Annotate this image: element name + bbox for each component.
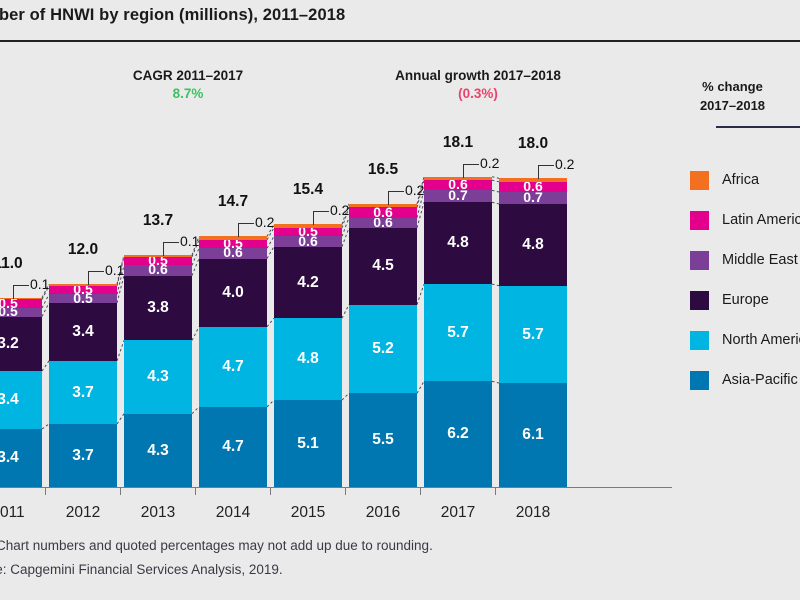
connector-line [117, 414, 124, 424]
segment-asia-pacific-2017[interactable]: 6.2 [424, 381, 492, 487]
segment-north-america-2014[interactable]: 4.7 [199, 327, 267, 407]
segment-latin-america-2011[interactable]: 0.5 [0, 299, 42, 308]
x-axis-line [0, 487, 672, 488]
x-tick [345, 488, 346, 495]
connector-line [417, 381, 424, 393]
africa-callout-2018: 0.2 [555, 156, 574, 172]
legend-item-middle-east[interactable]: Middle East [690, 240, 800, 280]
segment-value: 3.2 [0, 336, 19, 352]
segment-value: 0.5 [298, 228, 317, 237]
segment-value: 4.0 [222, 285, 244, 301]
segment-value: 5.2 [372, 341, 394, 357]
note-text: Note: Chart numbers and quoted percentag… [0, 538, 433, 553]
legend-swatch-icon [690, 331, 709, 350]
africa-callout-2017: 0.2 [480, 155, 499, 171]
connector-line [492, 202, 499, 204]
legend-swatch-icon [690, 171, 709, 190]
segment-value: 3.4 [72, 324, 94, 340]
legend-label: Middle East [722, 252, 798, 268]
segment-asia-pacific-2014[interactable]: 4.7 [199, 407, 267, 487]
connector-line [492, 190, 499, 192]
segment-africa-2016[interactable] [349, 204, 417, 207]
africa-leader-line-2015 [313, 211, 329, 225]
stacked-bar-chart: 3.43.43.20.50.53.73.73.40.50.54.34.33.80… [0, 40, 800, 600]
segment-value: 0.5 [0, 308, 18, 317]
connector-line [192, 259, 199, 276]
segment-value: 5.7 [447, 325, 469, 341]
segment-value: 3.4 [0, 392, 19, 408]
legend-swatch-icon [690, 251, 709, 270]
segment-north-america-2018[interactable]: 5.7 [499, 286, 567, 383]
segment-middle-east-2015[interactable]: 0.6 [274, 236, 342, 246]
africa-callout-2015: 0.2 [330, 202, 349, 218]
connector-line [267, 400, 274, 407]
segment-north-america-2016[interactable]: 5.2 [349, 305, 417, 394]
segment-africa-2014[interactable] [199, 236, 267, 239]
segment-europe-2012[interactable]: 3.4 [49, 303, 117, 361]
segment-value: 4.5 [372, 258, 394, 274]
segment-value: 3.4 [0, 450, 19, 466]
connector-line [192, 407, 199, 414]
segment-africa-2012[interactable] [49, 284, 117, 286]
segment-middle-east-2018[interactable]: 0.7 [499, 192, 567, 204]
segment-north-america-2017[interactable]: 5.7 [424, 284, 492, 381]
x-tick [45, 488, 46, 495]
segment-value: 3.8 [147, 300, 169, 316]
legend-label: Latin America [722, 212, 800, 228]
africa-callout-2014: 0.2 [255, 214, 274, 230]
legend-swatch-icon [690, 211, 709, 230]
segment-middle-east-2012[interactable]: 0.5 [49, 294, 117, 303]
segment-value: 0.6 [223, 248, 242, 258]
segment-value: 4.3 [147, 369, 169, 385]
segment-middle-east-2011[interactable]: 0.5 [0, 308, 42, 317]
segment-value: 4.8 [297, 351, 319, 367]
segment-latin-america-2016[interactable]: 0.6 [349, 207, 417, 217]
x-tick [495, 488, 496, 495]
segment-value: 0.6 [148, 265, 167, 275]
segment-latin-america-2018[interactable]: 0.6 [499, 182, 567, 192]
segment-value: 5.5 [372, 432, 394, 448]
segment-europe-2017[interactable]: 4.8 [424, 202, 492, 284]
legend-swatch-icon [690, 291, 709, 310]
x-tick [270, 488, 271, 495]
africa-leader-line-2012 [88, 271, 104, 285]
connector-line [342, 305, 349, 319]
segment-middle-east-2014[interactable]: 0.6 [199, 248, 267, 258]
segment-latin-america-2017[interactable]: 0.6 [424, 180, 492, 190]
segment-value: 4.8 [522, 237, 544, 253]
segment-value: 0.5 [223, 240, 242, 249]
segment-value: 0.5 [148, 257, 167, 266]
legend-label: North America [722, 332, 800, 348]
segment-north-america-2015[interactable]: 4.8 [274, 318, 342, 400]
segment-asia-pacific-2012[interactable]: 3.7 [49, 424, 117, 487]
africa-callout-2013: 0.1 [180, 233, 199, 249]
total-label-2018: 18.0 [473, 135, 593, 153]
segment-north-america-2013[interactable]: 4.3 [124, 340, 192, 413]
connector-line [42, 303, 49, 317]
segment-europe-2015[interactable]: 4.2 [274, 247, 342, 319]
segment-value: 4.8 [447, 235, 469, 251]
total-label-2016: 16.5 [323, 161, 443, 179]
connector-line [267, 318, 274, 327]
segment-value: 0.5 [0, 299, 18, 308]
segment-value: 4.7 [222, 359, 244, 375]
total-label-2015: 15.4 [248, 181, 368, 199]
total-label-2012: 12.0 [23, 241, 143, 259]
africa-callout-2016: 0.2 [405, 182, 424, 198]
segment-value: 0.6 [373, 207, 392, 217]
page-title: Number of HNWI by region (millions), 201… [0, 6, 345, 25]
connector-line [42, 361, 49, 371]
segment-value: 0.7 [448, 190, 467, 202]
segment-value: 0.6 [523, 182, 542, 192]
connector-line [492, 284, 499, 286]
segment-value: 4.2 [297, 275, 319, 291]
africa-leader-line-2016 [388, 191, 404, 205]
segment-asia-pacific-2013[interactable]: 4.3 [124, 414, 192, 487]
x-label-2018: 2018 [488, 504, 578, 522]
legend-label: Europe [722, 292, 769, 308]
segment-value: 6.1 [522, 427, 544, 443]
segment-value: 0.5 [73, 294, 92, 303]
connector-line [342, 228, 349, 247]
segment-asia-pacific-2016[interactable]: 5.5 [349, 393, 417, 487]
segment-value: 0.6 [373, 218, 392, 228]
legend-item-europe[interactable]: Europe [690, 280, 800, 320]
segment-value: 3.7 [72, 385, 94, 401]
connector-line [342, 393, 349, 400]
legend-item-asia-pacific[interactable]: Asia-Pacific [690, 360, 800, 400]
segment-africa-2018[interactable] [499, 178, 567, 181]
legend-item-latin-america[interactable]: Latin America [690, 200, 800, 240]
x-tick [420, 488, 421, 495]
segment-value: 0.7 [523, 192, 542, 204]
africa-callout-2012: 0.1 [105, 262, 124, 278]
segment-latin-america-2014[interactable]: 0.5 [199, 240, 267, 249]
total-label-2013: 13.7 [98, 212, 218, 230]
segment-north-america-2012[interactable]: 3.7 [49, 361, 117, 424]
segment-europe-2013[interactable]: 3.8 [124, 276, 192, 341]
legend-swatch-icon [690, 371, 709, 390]
connector-line [417, 284, 424, 304]
connector-line [492, 180, 499, 182]
segment-europe-2011[interactable]: 3.2 [0, 317, 42, 372]
segment-europe-2016[interactable]: 4.5 [349, 228, 417, 305]
legend-item-north-america[interactable]: North America [690, 320, 800, 360]
africa-leader-line-2013 [163, 242, 179, 256]
segment-value: 4.3 [147, 443, 169, 459]
segment-value: 5.7 [522, 327, 544, 343]
segment-africa-2015[interactable] [274, 224, 342, 227]
segment-north-america-2011[interactable]: 3.4 [0, 371, 42, 429]
segment-value: 0.6 [298, 236, 317, 246]
segment-middle-east-2013[interactable]: 0.6 [124, 265, 192, 275]
segment-asia-pacific-2015[interactable]: 5.1 [274, 400, 342, 487]
segment-europe-2014[interactable]: 4.0 [199, 259, 267, 327]
segment-value: 3.7 [72, 448, 94, 464]
connector-line [417, 202, 424, 228]
legend: AfricaLatin AmericaMiddle EastEuropeNort… [690, 160, 800, 400]
segment-asia-pacific-2011[interactable]: 3.4 [0, 429, 42, 487]
connector-line [192, 248, 199, 265]
legend-item-africa[interactable]: Africa [690, 160, 800, 200]
africa-leader-line-2011 [13, 285, 29, 299]
segment-asia-pacific-2018[interactable]: 6.1 [499, 383, 567, 487]
segment-latin-america-2012[interactable]: 0.5 [49, 286, 117, 295]
connector-line [42, 424, 49, 429]
segment-value: 5.1 [297, 436, 319, 452]
x-tick [195, 488, 196, 495]
legend-label: Africa [722, 172, 759, 188]
connector-line [117, 340, 124, 360]
connector-line [492, 381, 499, 383]
connector-line [492, 177, 499, 179]
connector-line [267, 247, 274, 259]
segment-middle-east-2017[interactable]: 0.7 [424, 190, 492, 202]
segment-latin-america-2015[interactable]: 0.5 [274, 228, 342, 237]
segment-value: 6.2 [447, 426, 469, 442]
connector-line [192, 327, 199, 341]
segment-europe-2018[interactable]: 4.8 [499, 204, 567, 286]
segment-value: 4.7 [222, 439, 244, 455]
segment-middle-east-2016[interactable]: 0.6 [349, 218, 417, 228]
legend-label: Asia-Pacific [722, 372, 798, 388]
source-text: Source: Capgemini Financial Services Ana… [0, 562, 283, 577]
connector-line [342, 218, 349, 237]
africa-callout-2011: 0.1 [30, 276, 49, 292]
africa-leader-line-2018 [538, 165, 554, 179]
africa-leader-line-2017 [463, 164, 479, 178]
x-tick [120, 488, 121, 495]
africa-leader-line-2014 [238, 223, 254, 237]
segment-value: 0.5 [73, 286, 92, 295]
segment-value: 0.6 [448, 180, 467, 190]
